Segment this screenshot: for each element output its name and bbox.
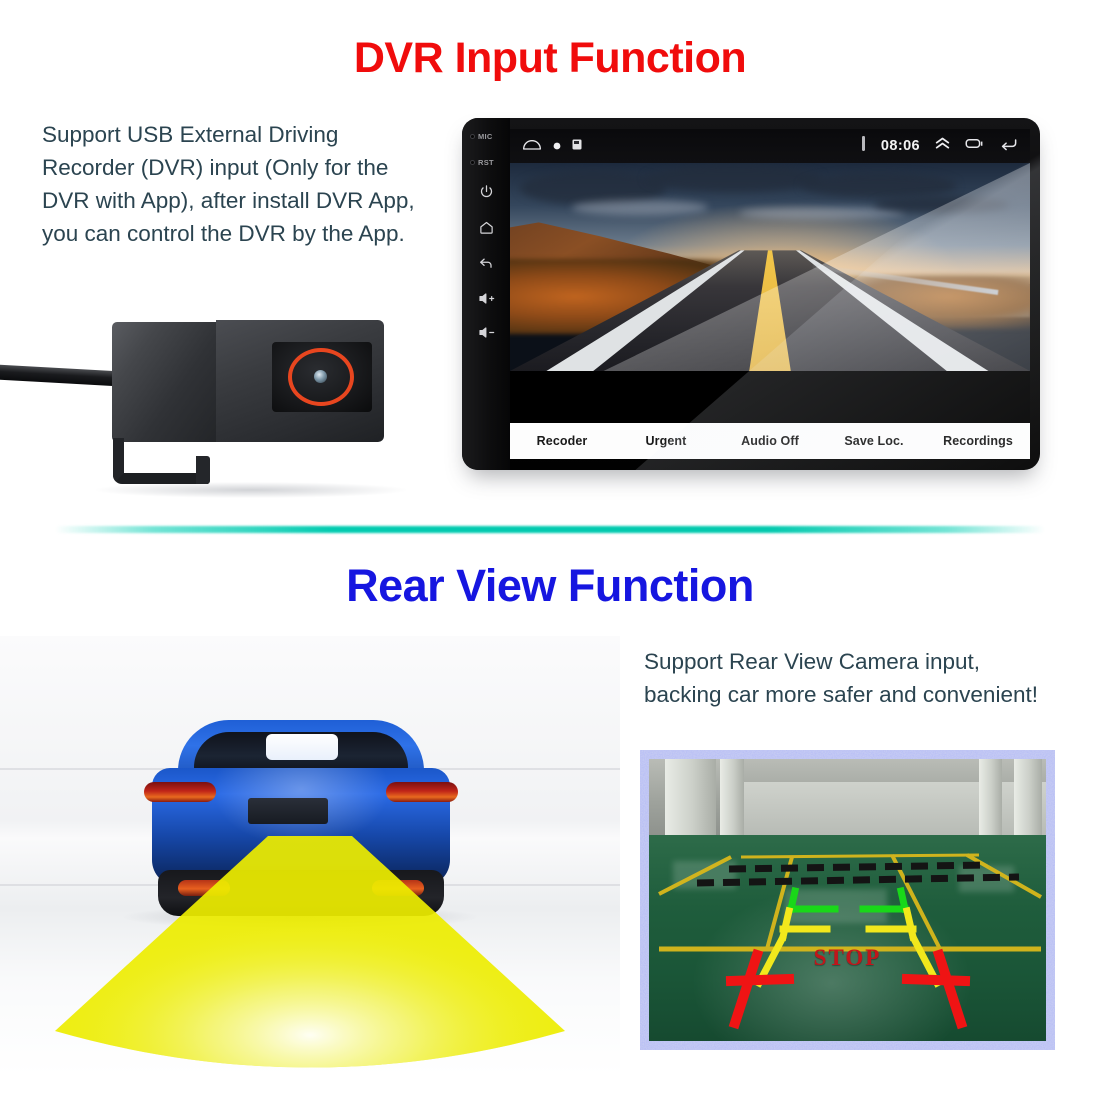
camera-lens-glint [314, 370, 327, 383]
dvr-section-title: DVR Input Function [0, 34, 1100, 83]
power-icon[interactable] [479, 184, 494, 199]
car-taillight-right [386, 782, 458, 802]
car-window-highlight [266, 734, 338, 760]
reset-label: RST [478, 158, 494, 167]
garage-camera-image: STOP [649, 759, 1046, 1041]
menu-item-audio-off[interactable]: Audio Off [718, 434, 822, 448]
android-status-bar: 08:06 [510, 129, 1030, 163]
volume-down-icon[interactable] [478, 326, 495, 339]
blue-suv-rear-view [136, 720, 466, 920]
status-bar-right-group: 08:06 [860, 136, 1018, 156]
rear-camera-coverage-photo [0, 636, 620, 1076]
menu-item-save-loc[interactable]: Save Loc. [822, 434, 926, 448]
camera-cable [0, 364, 122, 386]
mic-label: MIC [478, 132, 493, 141]
chevron-up-icon[interactable] [934, 136, 951, 156]
stop-overlay-text: STOP [649, 945, 1046, 971]
menu-item-urgent[interactable]: Urgent [614, 434, 718, 448]
usb-icon [860, 136, 867, 156]
back-icon[interactable] [478, 256, 494, 271]
wheel-stops [697, 865, 1019, 883]
cloud [645, 165, 822, 192]
car-taillight-left [144, 782, 216, 802]
menu-item-recoder[interactable]: Recoder [510, 434, 614, 448]
cloud [739, 207, 905, 219]
head-unit-left-bezel: MIC RST [462, 118, 510, 470]
car-head-unit: MIC RST [462, 118, 1040, 470]
status-bar-left-group [522, 137, 582, 155]
cloud [874, 196, 1009, 213]
parking-guidelines-overlay [649, 759, 1046, 1041]
status-bar-clock: 08:06 [881, 138, 920, 154]
dot-icon [553, 137, 561, 155]
section-divider [55, 526, 1045, 533]
car-bumper-reflector-left [178, 880, 230, 896]
rear-description-text: Support Rear View Camera input, backing … [644, 645, 1059, 711]
home-icon[interactable] [479, 220, 494, 235]
car-license-plate [248, 798, 328, 824]
sd-card-icon [572, 137, 582, 155]
dvr-description-text: Support USB External Driving Recorder (D… [42, 118, 432, 250]
cloud [572, 200, 707, 215]
reset-label-row: RST [462, 158, 510, 167]
dvr-video-preview [510, 163, 1030, 371]
volume-up-icon[interactable] [478, 292, 495, 305]
camera-body-left [112, 322, 218, 442]
car-bumper-reflector-right [372, 880, 424, 896]
head-unit-screen[interactable]: 08:06 [510, 129, 1030, 459]
home-outline-icon[interactable] [522, 137, 542, 155]
product-feature-page: DVR Input Function Support USB External … [0, 0, 1100, 1100]
dvr-camera-photo [0, 300, 420, 500]
mic-label-row: MIC [462, 132, 510, 141]
camera-bracket-tip [196, 456, 210, 484]
camera-drop-shadow [96, 482, 406, 498]
camera-mount-bracket [113, 438, 208, 484]
reset-hole-icon [470, 160, 475, 165]
dvr-app-menu-bar: Recoder Urgent Audio Off Save Loc. Recor… [510, 423, 1030, 459]
menu-item-recordings[interactable]: Recordings [926, 434, 1030, 448]
back-arrow-icon[interactable] [999, 137, 1018, 156]
recents-icon[interactable] [965, 137, 985, 155]
rear-section-title: Rear View Function [0, 560, 1100, 612]
rear-camera-feed: STOP [640, 750, 1055, 1050]
mic-hole-icon [470, 134, 475, 139]
